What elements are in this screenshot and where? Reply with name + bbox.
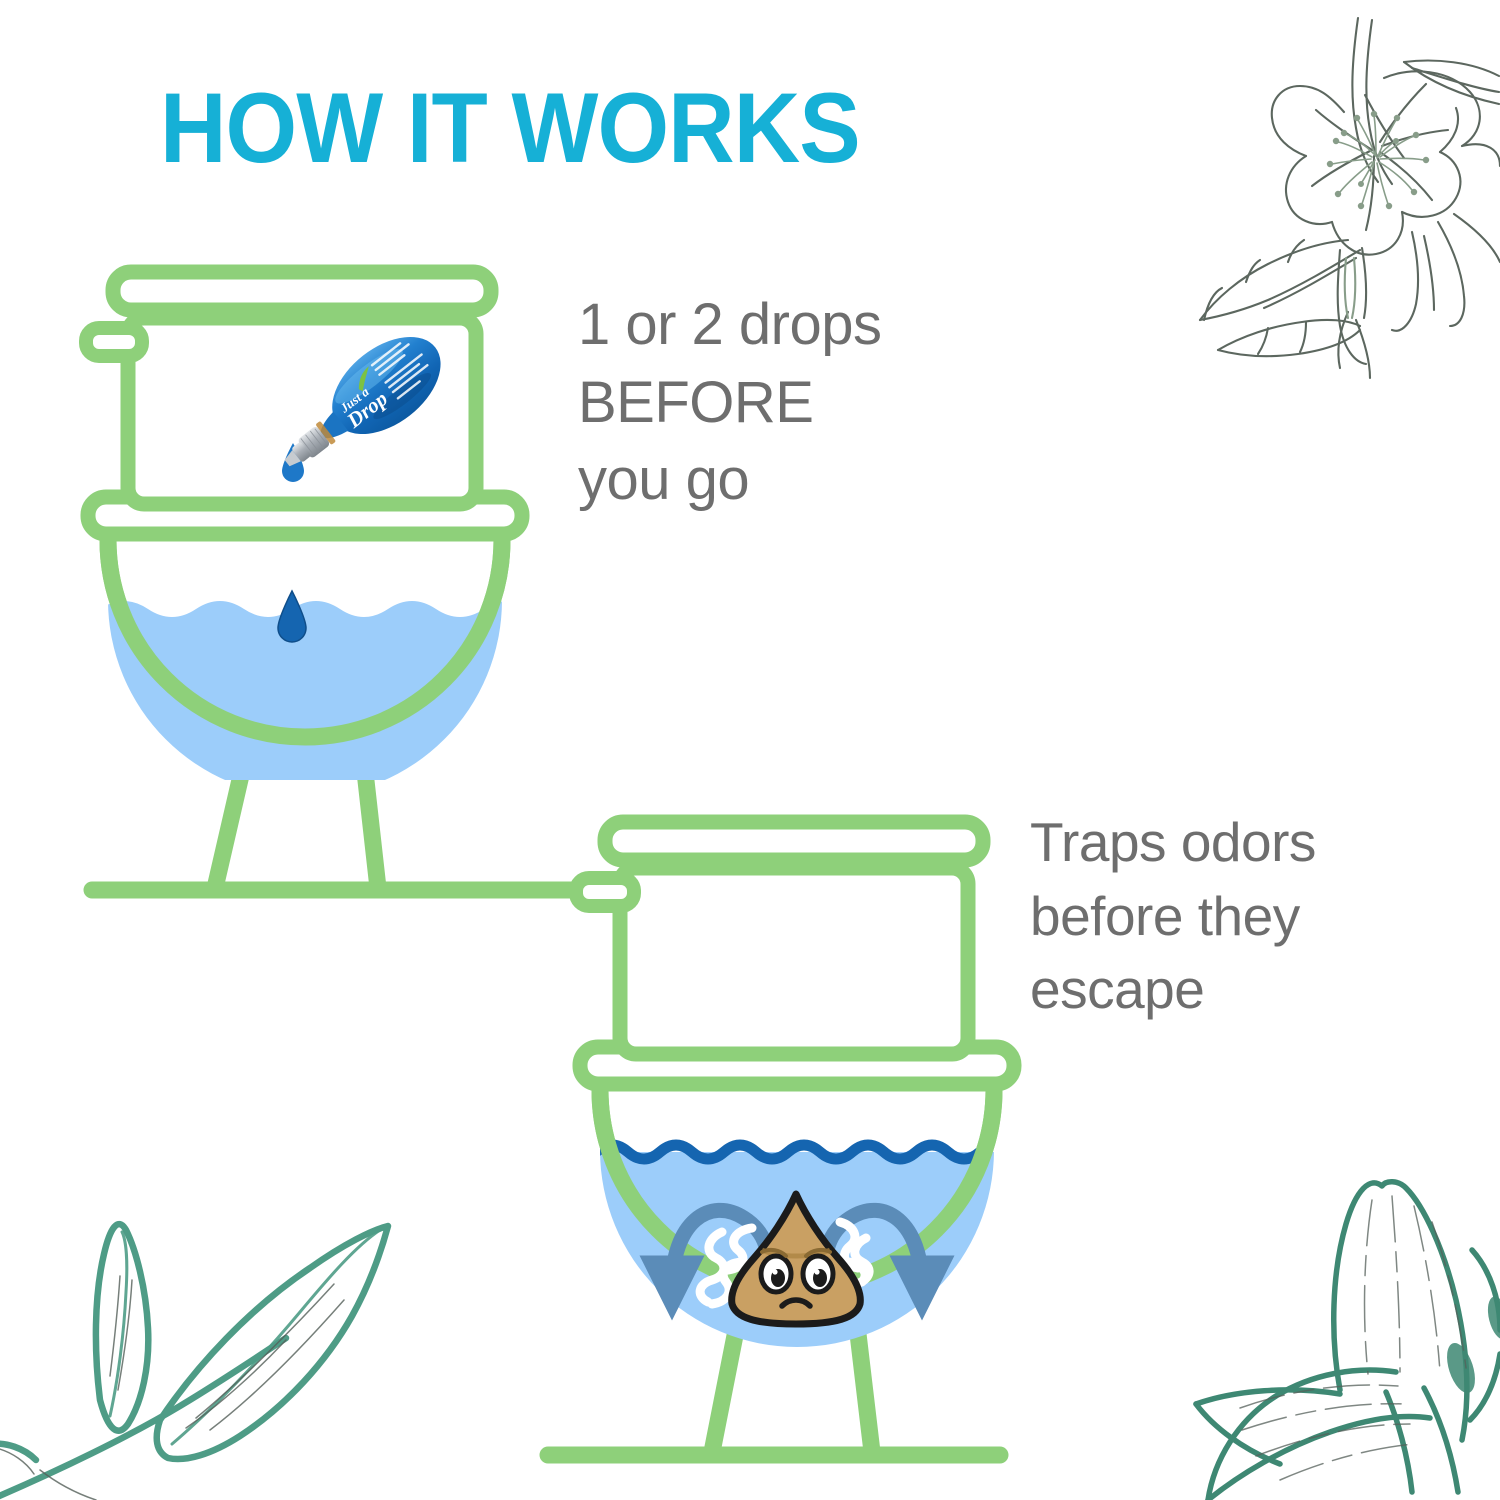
page-title: HOW IT WORKS: [160, 78, 860, 177]
tank-lid-step-2: [605, 822, 983, 860]
step-1-caption: 1 or 2 drops BEFORE you go: [578, 286, 1048, 519]
infographic-canvas: Just a Drop: [0, 0, 1500, 1500]
toilet-diagram-step-2: [0, 0, 1500, 1500]
tank-body-step-2: [620, 868, 968, 1054]
step-2-caption: Traps odors before they escape: [1030, 806, 1450, 1027]
flush-handle-step-2: [576, 878, 634, 906]
